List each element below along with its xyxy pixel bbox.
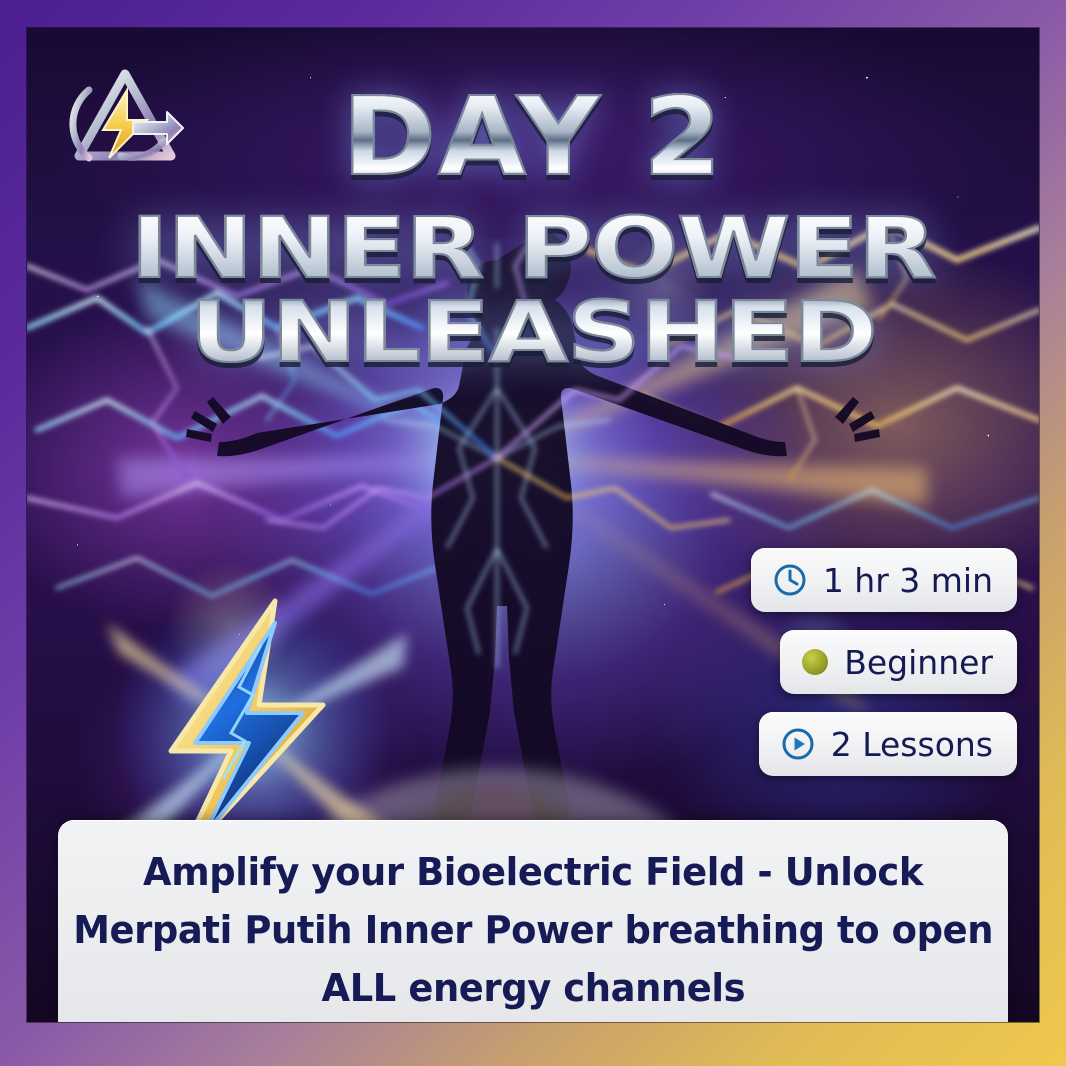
description-line-1: Amplify your Bioelectric Field - Unlock xyxy=(143,844,923,902)
level-badge[interactable]: Beginner xyxy=(780,630,1017,694)
meta-badges: 1 hr 3 min Beginner 2 Lessons xyxy=(751,548,1017,776)
level-dot-icon xyxy=(802,649,828,675)
level-label: Beginner xyxy=(844,646,993,679)
course-day-poster: DAY 2 INNER POWER UNLEASHED 1 hr 3 min B… xyxy=(0,0,1066,1066)
poster-inner-frame: DAY 2 INNER POWER UNLEASHED 1 hr 3 min B… xyxy=(27,28,1039,1022)
duration-badge[interactable]: 1 hr 3 min xyxy=(751,548,1017,612)
description-line-2: Merpati Putih Inner Power breathing to o… xyxy=(73,902,993,960)
lessons-label: 2 Lessons xyxy=(831,728,993,761)
page-title: INNER POWER UNLEASHED xyxy=(27,206,1039,374)
description-panel: Amplify your Bioelectric Field - Unlock … xyxy=(58,820,1008,1022)
play-circle-icon xyxy=(781,727,815,761)
clock-icon xyxy=(773,563,807,597)
description-line-3: ALL energy channels xyxy=(321,960,745,1018)
lessons-badge[interactable]: 2 Lessons xyxy=(759,712,1017,776)
duration-label: 1 hr 3 min xyxy=(823,564,993,597)
day-label: DAY 2 xyxy=(27,84,1039,192)
